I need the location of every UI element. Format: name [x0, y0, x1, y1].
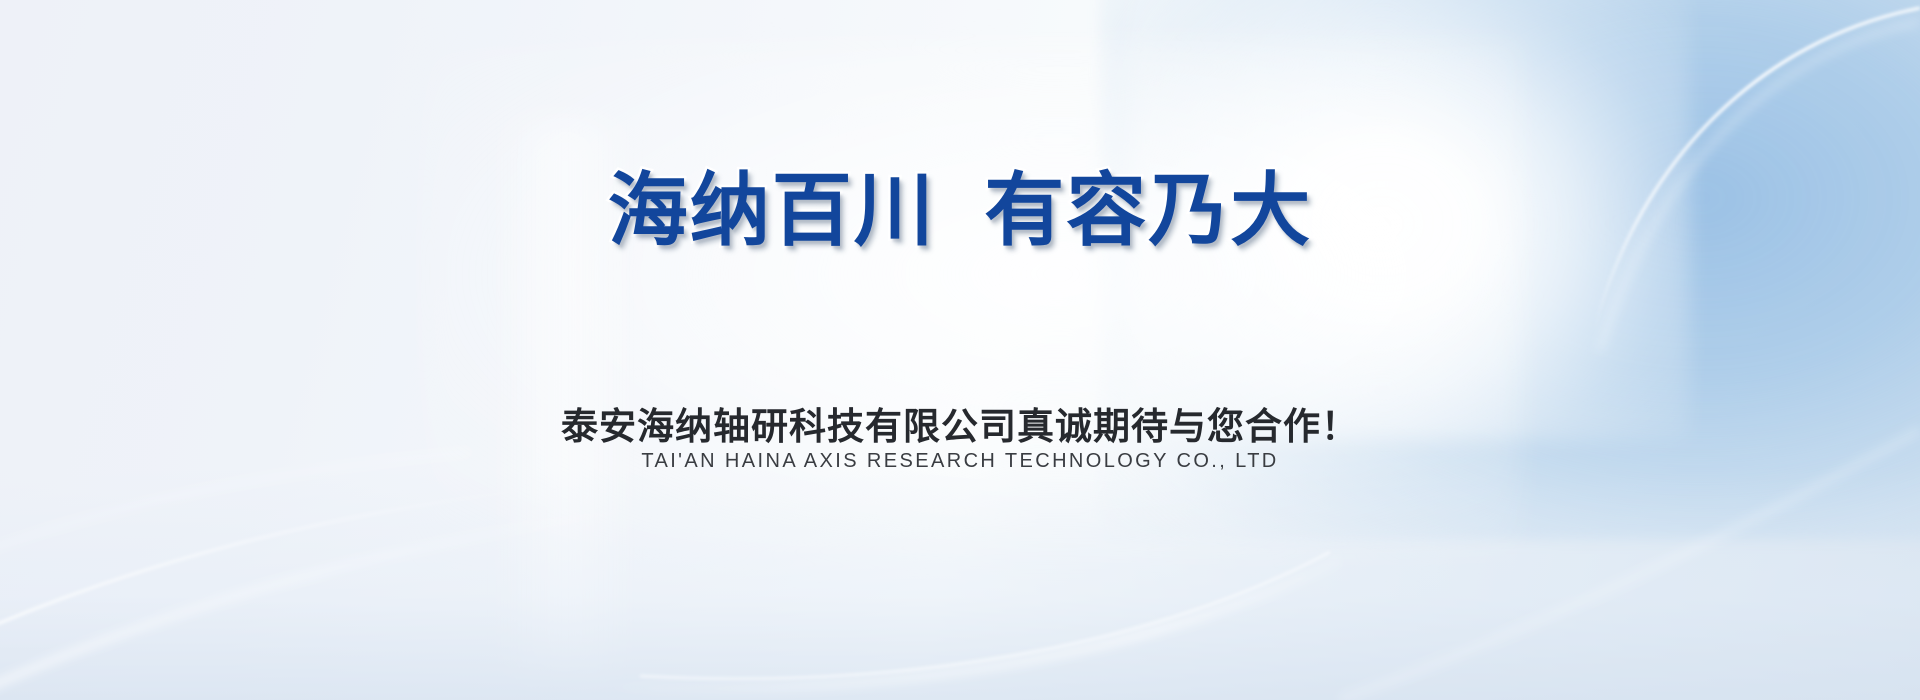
- hero-banner: 海纳百川 有容乃大 泰安海纳轴研科技有限公司真诚期待与您合作！ TAI'AN H…: [0, 0, 1920, 700]
- banner-headline: 海纳百川 有容乃大: [0, 166, 1920, 256]
- banner-content: 海纳百川 有容乃大 泰安海纳轴研科技有限公司真诚期待与您合作！ TAI'AN H…: [0, 0, 1920, 700]
- banner-subtitle-chinese: 泰安海纳轴研科技有限公司真诚期待与您合作！: [0, 396, 1920, 450]
- banner-subtitle-english: TAI'AN HAINA AXIS RESEARCH TECHNOLOGY CO…: [0, 450, 1920, 473]
